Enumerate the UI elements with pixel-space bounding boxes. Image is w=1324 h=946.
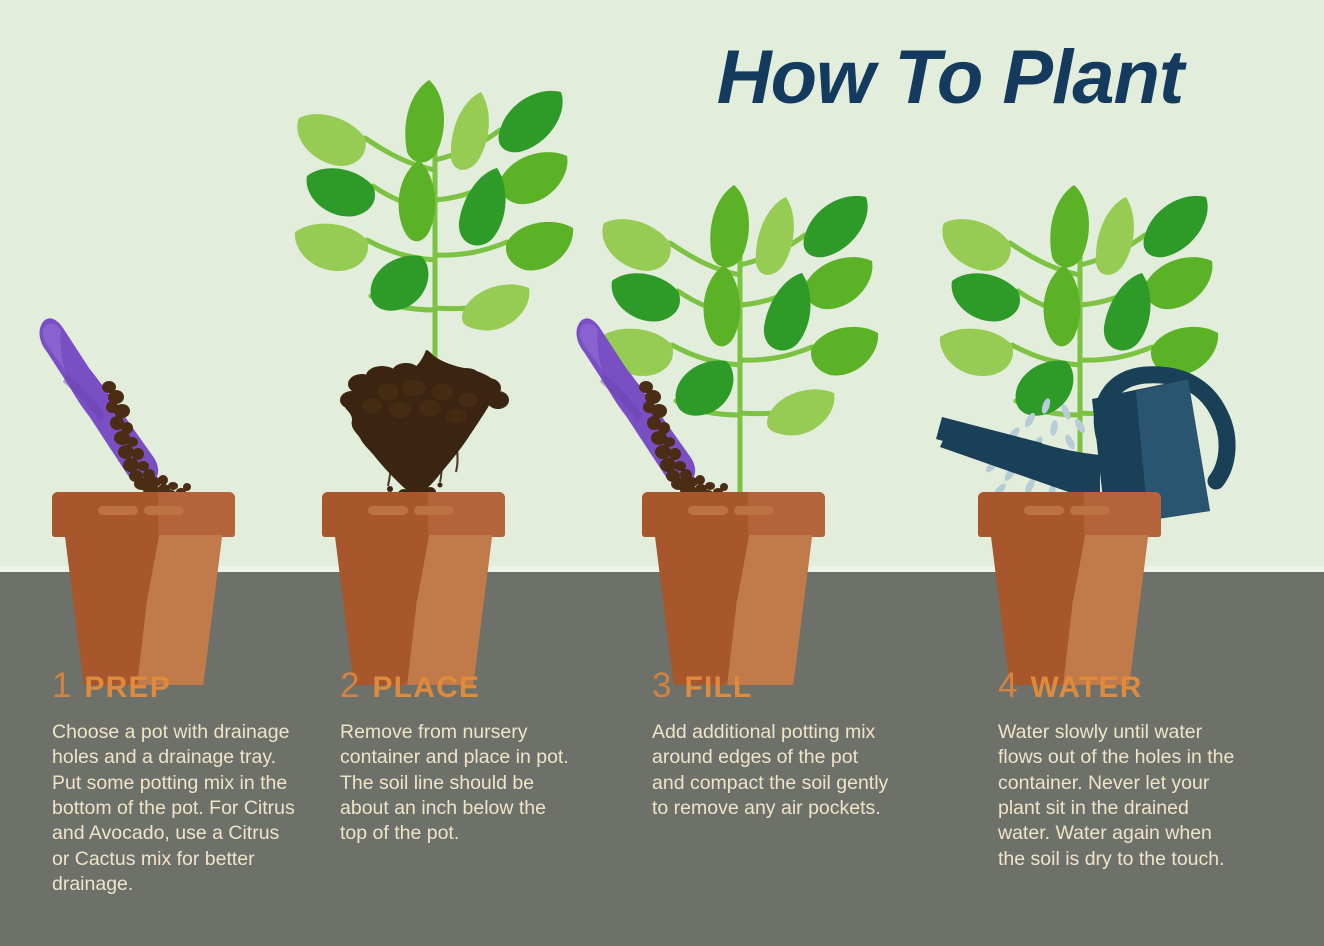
pot-rim-highlight-right bbox=[414, 506, 454, 515]
step-column-4: 4 WATER Water slowly until water flows o… bbox=[940, 0, 1271, 946]
step-2: 2 PLACE Remove from nursery container an… bbox=[340, 668, 572, 847]
step-1-description: Choose a pot with drainage holes and a d… bbox=[52, 720, 300, 897]
pot-rim-highlight-left bbox=[98, 506, 138, 515]
step-4: 4 WATER Water slowly until water flows o… bbox=[998, 668, 1236, 872]
pot-rim-highlight-right bbox=[144, 506, 184, 515]
flower-pot-icon bbox=[642, 492, 825, 686]
plant-icon bbox=[285, 60, 585, 390]
step-3-number: 3 bbox=[652, 668, 671, 703]
infographic-canvas: How To Plant bbox=[0, 0, 1324, 946]
step-2-description: Remove from nursery container and place … bbox=[340, 720, 572, 847]
pot-rim-highlight-left bbox=[1024, 506, 1064, 515]
flower-pot-icon bbox=[978, 492, 1161, 686]
step-1-heading: 1 PREP bbox=[52, 668, 300, 703]
step-4-label: WATER bbox=[1030, 673, 1142, 703]
step-4-description: Water slowly until water flows out of th… bbox=[998, 720, 1236, 872]
pot-rim-highlight-right bbox=[1070, 506, 1110, 515]
pot-rim-highlight-left bbox=[688, 506, 728, 515]
step-1-label: PREP bbox=[84, 673, 171, 703]
step-2-number: 2 bbox=[340, 668, 359, 703]
step-4-heading: 4 WATER bbox=[998, 668, 1236, 703]
pot-rim-highlight-left bbox=[368, 506, 408, 515]
step-3-label: FILL bbox=[684, 673, 752, 703]
step-3-heading: 3 FILL bbox=[652, 668, 892, 703]
step-column-3: 3 FILL Add additional potting mix around… bbox=[600, 0, 931, 946]
flower-pot-icon bbox=[322, 492, 505, 686]
flower-pot-icon bbox=[52, 492, 235, 686]
step-2-heading: 2 PLACE bbox=[340, 668, 572, 703]
step-4-number: 4 bbox=[998, 668, 1017, 703]
step-column-1: 1 PREP Choose a pot with drainage holes … bbox=[0, 0, 331, 946]
pot-rim-highlight-right bbox=[734, 506, 774, 515]
step-3: 3 FILL Add additional potting mix around… bbox=[652, 668, 892, 821]
step-1: 1 PREP Choose a pot with drainage holes … bbox=[52, 668, 300, 897]
step-1-number: 1 bbox=[52, 668, 71, 703]
step-2-label: PLACE bbox=[372, 673, 480, 703]
root-ball-icon bbox=[330, 348, 520, 498]
step-3-description: Add additional potting mix around edges … bbox=[652, 720, 892, 821]
